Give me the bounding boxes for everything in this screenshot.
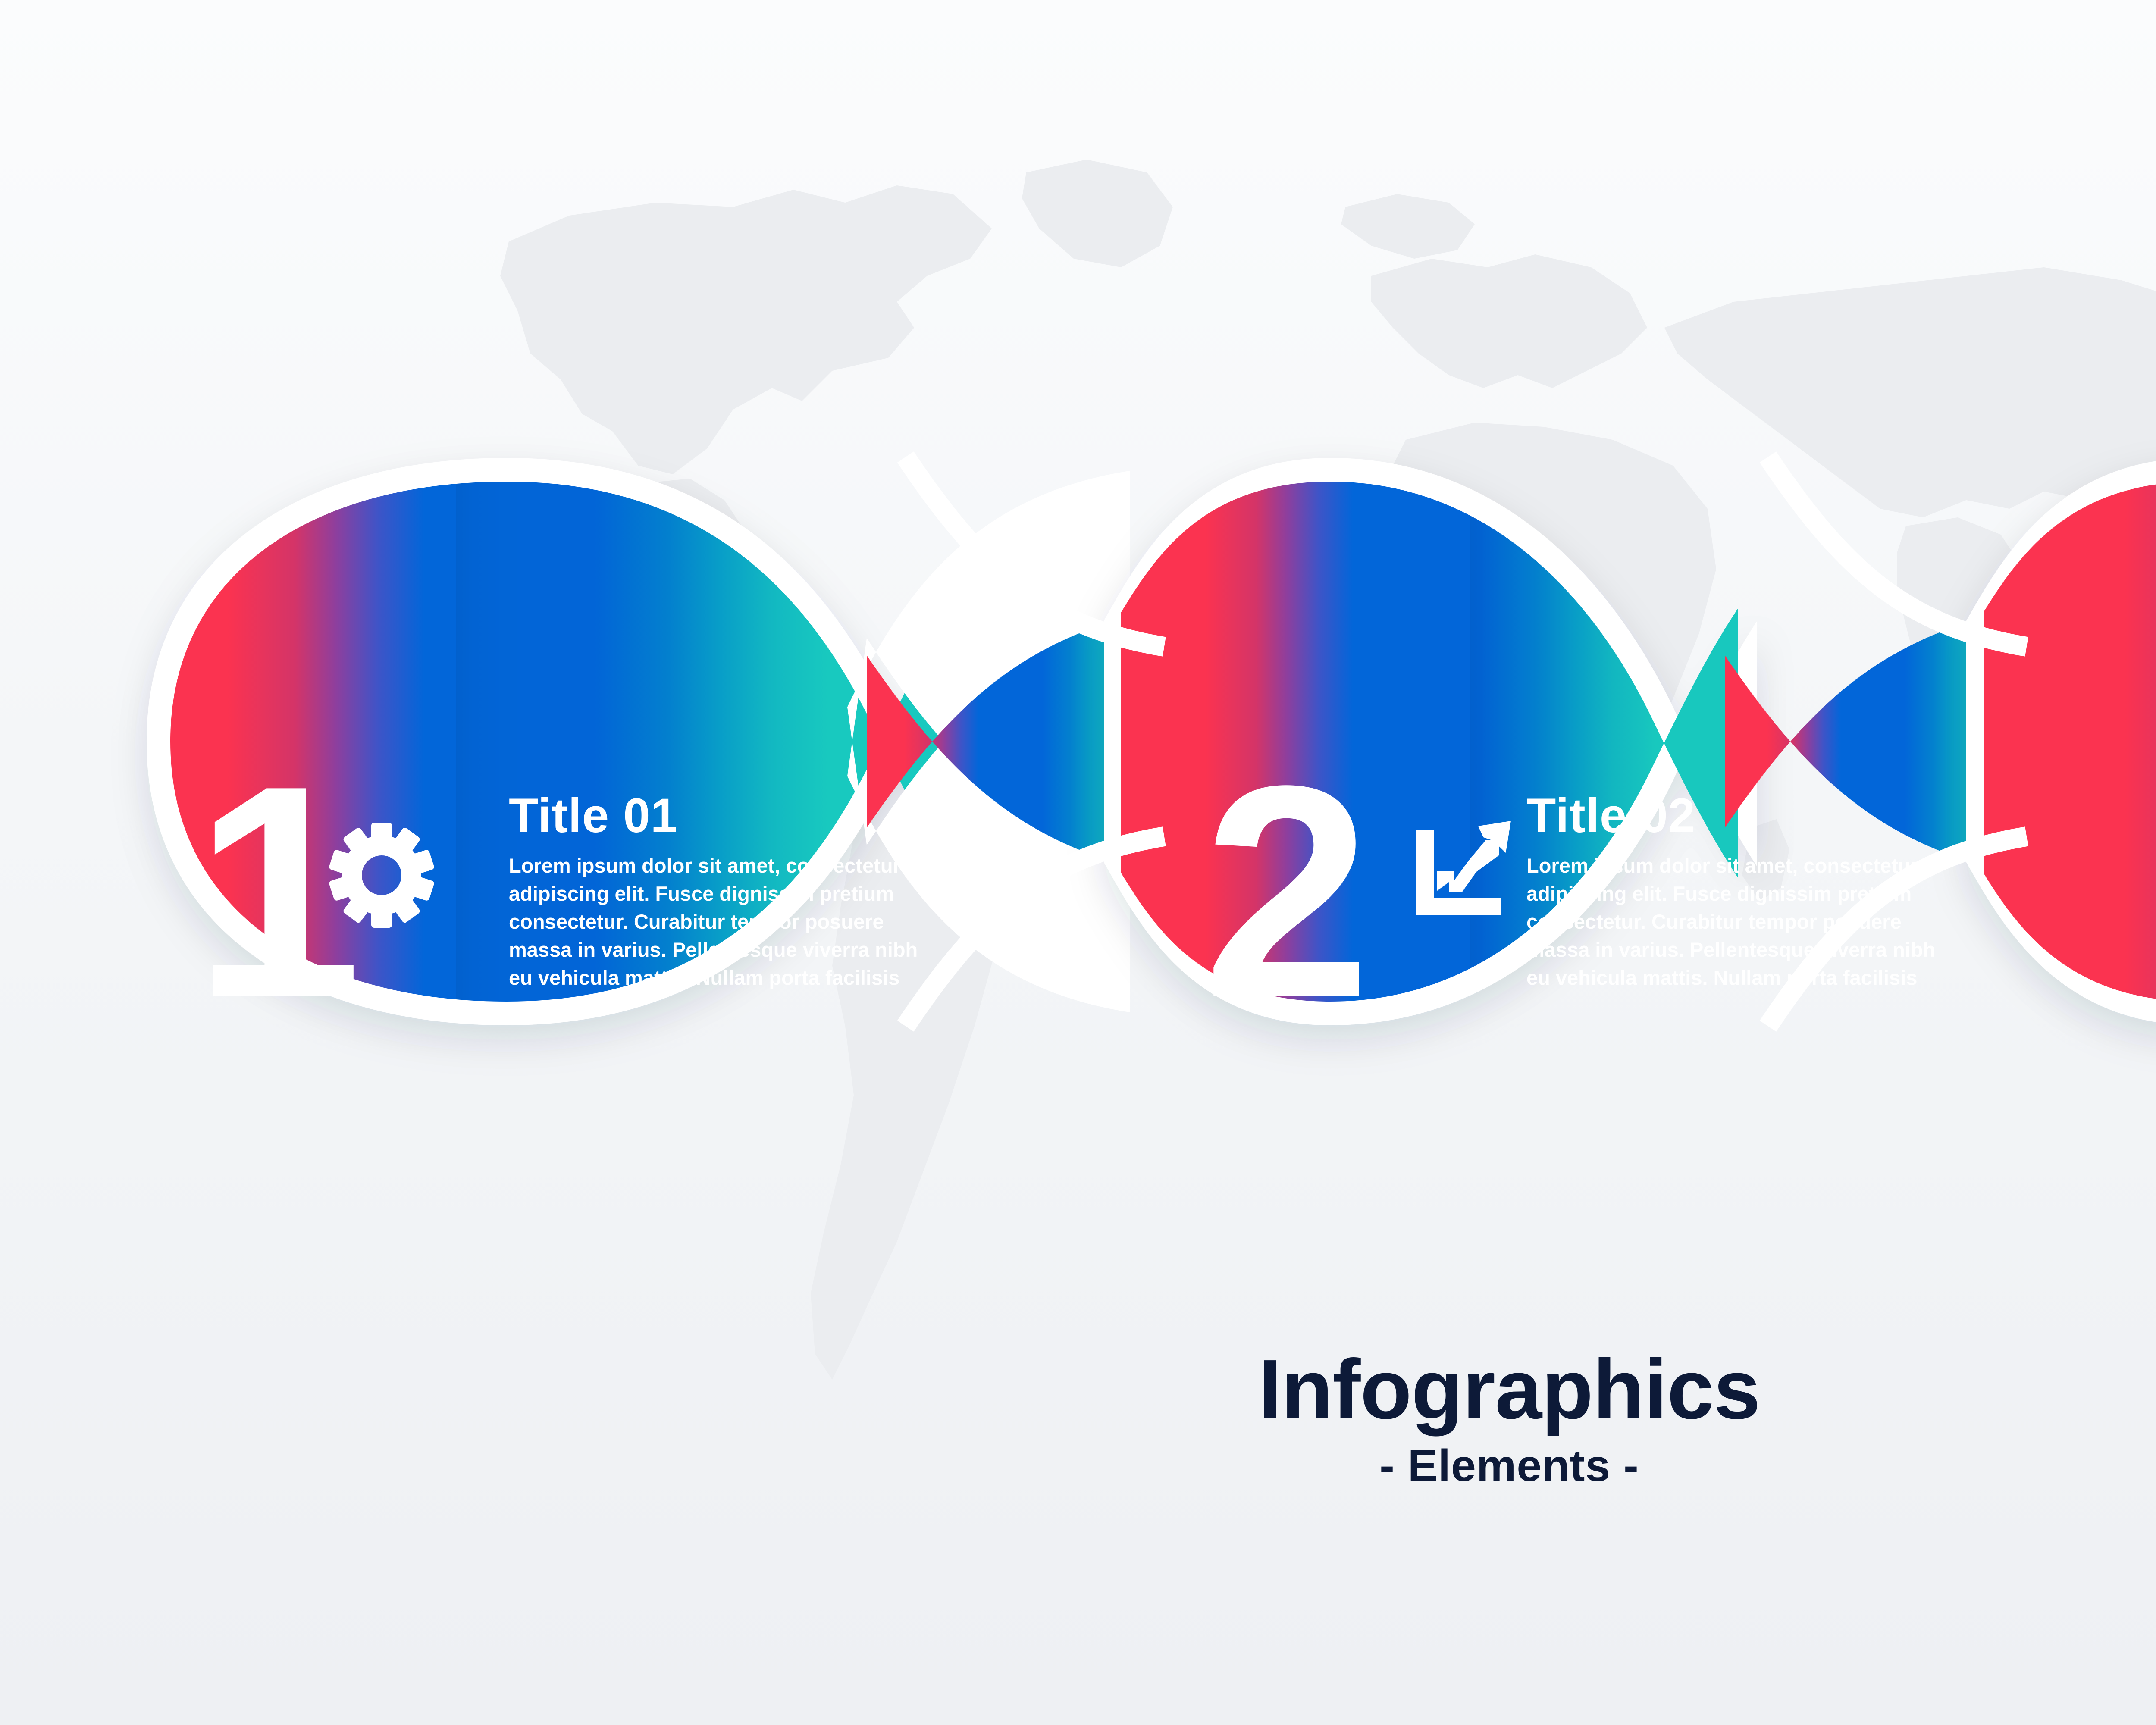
footer-title: Infographics [1258, 1342, 1760, 1437]
step-2-title: Title 02 [1526, 789, 1695, 842]
growth-chart-icon [1416, 821, 1511, 915]
step-2-number: 2 [1203, 723, 1371, 1060]
infographic-canvas: 1 Title 01 Lorem i [0, 0, 2156, 1725]
step-2-content[interactable]: 2 Title 02 Lorem ipsum dolor sit amet, c… [1203, 723, 1935, 1060]
svg-text:massa in varius. Pellentesque: massa in varius. Pellentesque viverra ni… [509, 938, 918, 961]
footer-subtitle: - Elements - [1379, 1441, 1639, 1491]
step-2-body: Lorem ipsum dolor sit amet, consectetur … [1526, 854, 1935, 989]
svg-text:adipiscing elit. Fusce digniss: adipiscing elit. Fusce dignissim pretium [1526, 882, 1912, 905]
svg-text:massa in varius. Pellentesque: massa in varius. Pellentesque viverra ni… [1526, 938, 1935, 961]
svg-text:Lorem ipsum dolor sit amet, co: Lorem ipsum dolor sit amet, consectetur [1526, 854, 1918, 877]
footer: Infographics - Elements - [1258, 1342, 1760, 1491]
svg-text:eu vehicula mattis. Nullam por: eu vehicula mattis. Nullam porta facilis… [1526, 966, 1917, 989]
step-1-content[interactable]: 1 Title 01 Lorem i [194, 723, 918, 1060]
svg-text:Lorem ipsum dolor sit amet, co: Lorem ipsum dolor sit amet, consectetur [509, 854, 901, 877]
step-1-body: Lorem ipsum dolor sit amet, consectetur … [509, 854, 918, 989]
svg-text:adipiscing elit. Fusce digniss: adipiscing elit. Fusce dignissim pretium [509, 882, 894, 905]
content-overlay: 1 Title 01 Lorem i [0, 0, 2156, 1725]
gear-icon [329, 823, 435, 928]
step-1-title: Title 01 [509, 789, 678, 842]
svg-text:eu vehicula mattis. Nullam por: eu vehicula mattis. Nullam porta facilis… [509, 966, 899, 989]
svg-text:consectetur. Curabitur tempor: consectetur. Curabitur tempor posuere [509, 910, 884, 933]
svg-text:consectetur. Curabitur tempor: consectetur. Curabitur tempor posuere [1526, 910, 1902, 933]
